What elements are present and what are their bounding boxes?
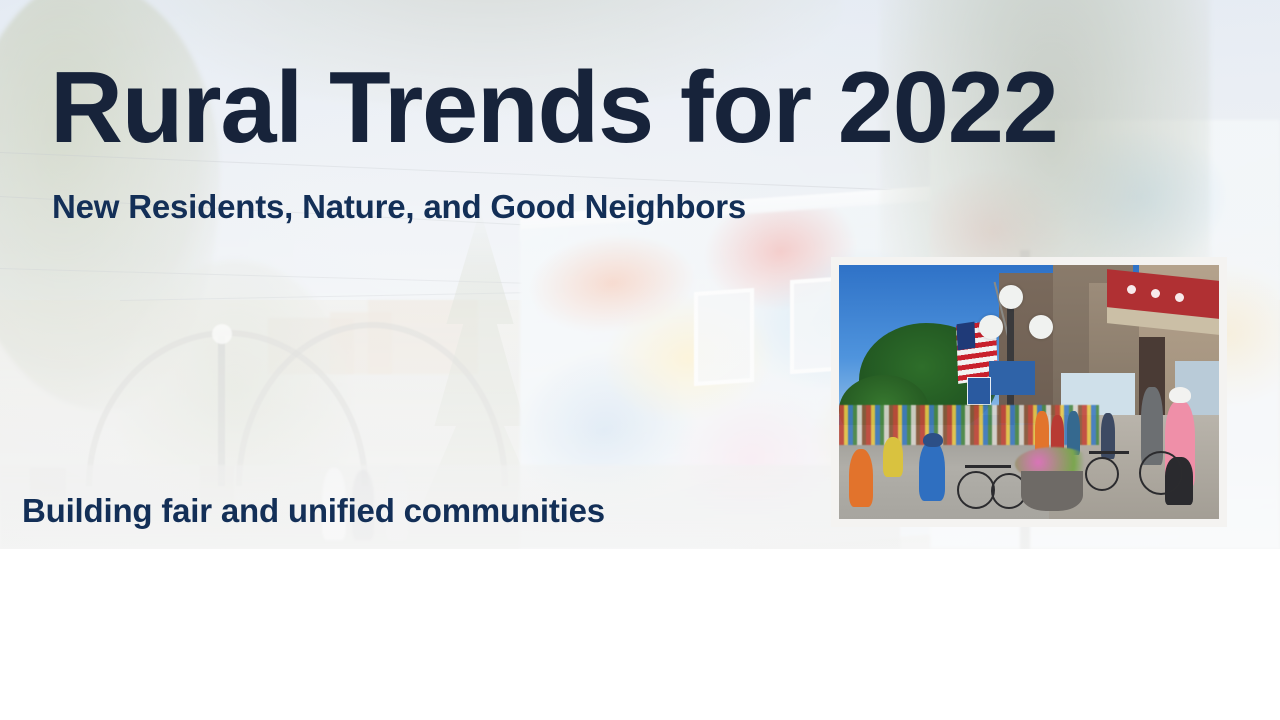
footer-bar: SAVE YOUR .town https://LearnTo.SaveYour… xyxy=(0,549,1280,720)
photo-lamp-globe-top xyxy=(999,285,1023,309)
photo-cyclist-blue xyxy=(919,441,945,501)
photo-street-sign xyxy=(967,377,991,405)
inset-photo xyxy=(839,265,1219,519)
photo-flag-union xyxy=(957,322,976,351)
hero-banner: Rural Trends for 2022 New Residents, Nat… xyxy=(0,0,1280,549)
paw-print-icon xyxy=(1175,293,1184,302)
slide-canvas: Rural Trends for 2022 New Residents, Nat… xyxy=(0,0,1280,720)
photo-flower-planter xyxy=(1021,471,1083,511)
page-subtitle: New Residents, Nature, and Good Neighbor… xyxy=(52,188,746,226)
paw-print-icon xyxy=(1151,289,1160,298)
page-tagline: Building fair and unified communities xyxy=(22,492,605,530)
photo-helmet xyxy=(1169,387,1191,403)
photo-cyclist-yellow xyxy=(883,437,903,477)
photo-lamp-globe-right xyxy=(1029,315,1053,339)
page-title: Rural Trends for 2022 xyxy=(50,58,1058,159)
photo-bike-frame-1 xyxy=(965,465,1011,468)
paw-print-icon xyxy=(1127,285,1136,294)
inset-photo-frame xyxy=(831,257,1227,527)
photo-cyclist-helmet-blue xyxy=(923,433,943,447)
photo-cyclist-orange xyxy=(849,449,873,507)
photo-bike-wheel-1 xyxy=(957,471,995,509)
photo-lamp-globe-left xyxy=(979,315,1003,339)
photo-storefront-window-3 xyxy=(989,361,1035,395)
photo-bike-wheel-4 xyxy=(1139,451,1183,495)
photo-bike-frame-2 xyxy=(1089,451,1129,454)
